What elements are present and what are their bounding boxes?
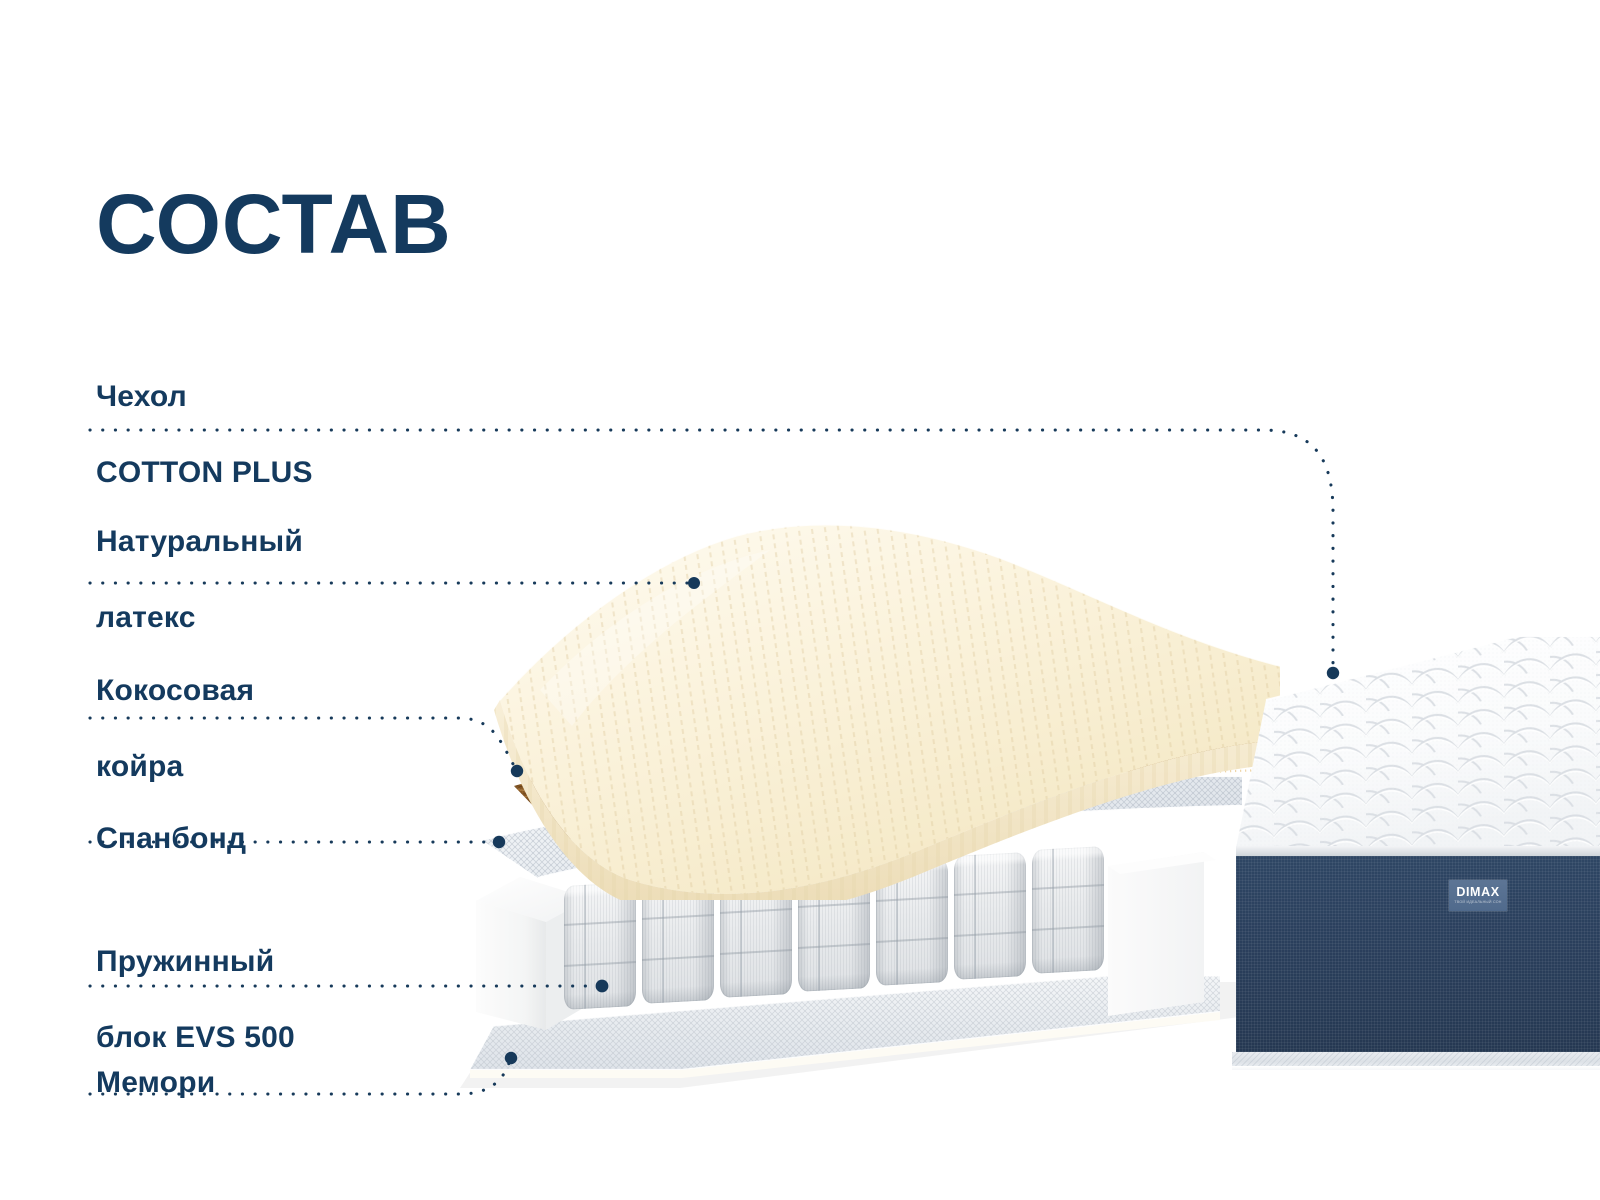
layer-label-memory: Мемори (96, 1026, 215, 1140)
cover-piping-top (1236, 846, 1600, 856)
layer-label-latex-line1: Натуральный (96, 523, 303, 561)
layer-label-springs-line1: Пружинный (96, 943, 295, 981)
layer-label-spunbond: Спанбонд (96, 782, 246, 896)
layer-label-latex-line2: латекс (96, 599, 303, 637)
base-highlight (1232, 1066, 1600, 1070)
natural-latex-layer (480, 510, 1300, 900)
layer-label-coir-line2: койра (96, 748, 254, 786)
layer-label-spunbond-line1: Спанбонд (96, 820, 246, 858)
brand-label-patch: DIMAX ТВОЙ ИДЕАЛЬНЫЙ СОН (1449, 880, 1507, 911)
illustration-canvas: DIMAX ТВОЙ ИДЕАЛЬНЫЙ СОН (0, 0, 1600, 1200)
layer-label-memory-line1: Мемори (96, 1064, 215, 1102)
brand-name: DIMAX (1456, 886, 1499, 899)
mattress-side-band (1236, 856, 1600, 1052)
brand-tagline: ТВОЙ ИДЕАЛЬНЫЙ СОН (1454, 901, 1501, 905)
layer-label-coir-line1: Кокосовая (96, 672, 254, 710)
layer-label-cover-line1: Чехол (96, 378, 313, 416)
page-title: СОСТАВ (96, 182, 452, 266)
